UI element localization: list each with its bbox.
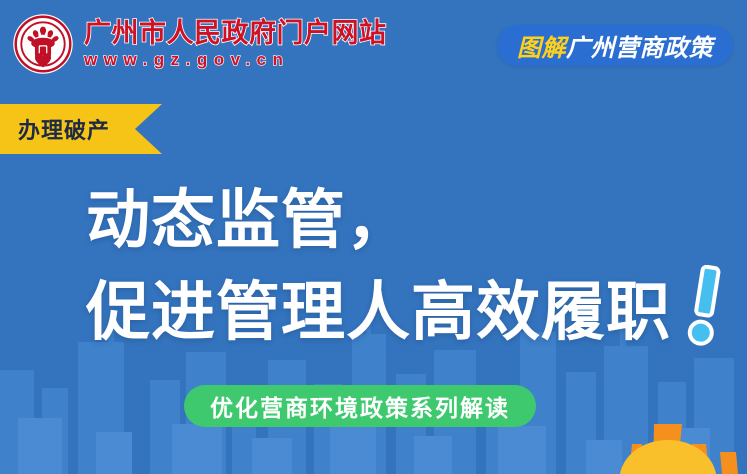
guangzhou-city-emblem-icon	[12, 13, 74, 75]
category-ribbon[interactable]: 办理破产	[0, 104, 162, 154]
subtitle-pill[interactable]: 优化营商环境政策系列解读	[184, 385, 536, 427]
headline-row-2: 促进管理人高效履职	[0, 265, 747, 347]
site-url: www.gz.gov.cn	[84, 51, 387, 69]
policy-series-badge[interactable]: 图解 广州营商政策	[497, 25, 733, 66]
headline-line-2: 促进管理人高效履职	[86, 278, 671, 347]
headline-block: 动态监管， 促进管理人高效履职	[0, 186, 747, 347]
exclamation-mark-icon	[677, 265, 733, 347]
badge-main-label: 广州营商政策	[566, 28, 713, 63]
headline-line-1: 动态监管，	[86, 186, 411, 255]
banner-header: 广州市人民政府门户网站 www.gz.gov.cn 图解 广州营商政策	[0, 0, 747, 92]
category-ribbon-label: 办理破产	[18, 113, 110, 145]
headline-row-1: 动态监管，	[0, 186, 747, 255]
site-title: 广州市人民政府门户网站	[84, 19, 387, 47]
policy-banner: 广州市人民政府门户网站 www.gz.gov.cn 图解 广州营商政策 办理破产…	[0, 0, 747, 474]
subtitle-label: 优化营商环境政策系列解读	[210, 389, 510, 423]
badge-accent-label: 图解	[517, 28, 566, 63]
site-logo-text: 广州市人民政府门户网站 www.gz.gov.cn	[84, 19, 387, 68]
gold-crown-ornament-icon	[572, 422, 747, 474]
site-logo[interactable]: 广州市人民政府门户网站 www.gz.gov.cn	[12, 13, 387, 75]
